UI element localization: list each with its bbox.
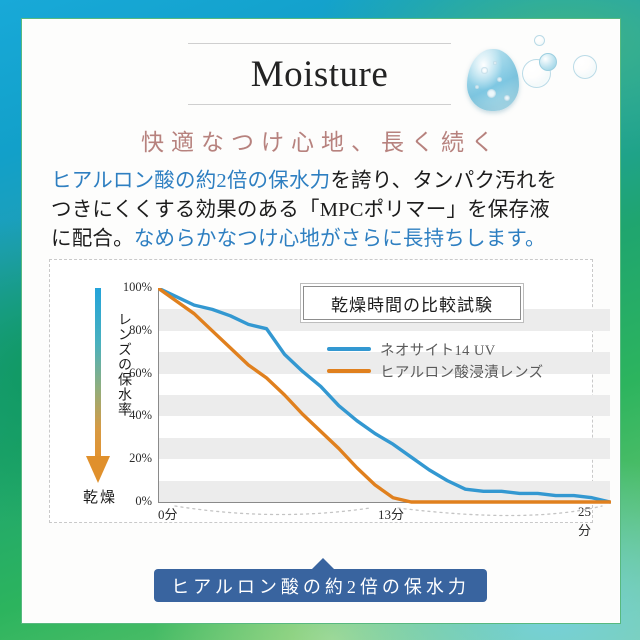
bottom-banner[interactable]: ヒアルロン酸の約2倍の保水力 [154, 569, 487, 602]
header: Moisture [22, 31, 620, 115]
chart-y-tick-label: 100% [112, 280, 152, 295]
header-rule-top [188, 43, 451, 44]
bubble-small-icon [539, 53, 557, 71]
body-highlight-2: なめらかなつけ心地がさらに長持ちします。 [134, 228, 546, 250]
chart-series-lines [158, 288, 611, 504]
dryness-arrow-icon [86, 288, 110, 486]
body-highlight-1: ヒアルロン酸の約2倍の保水力 [51, 170, 330, 192]
body-text-2: つきにくくする効果のある「MPCポリマー」を保存液 [51, 199, 550, 221]
droplet-large-icon [467, 49, 519, 111]
body-paragraph: ヒアルロン酸の約2倍の保水力を誇り、タンパク汚れをつきにくくする効果のある「MP… [51, 167, 596, 254]
chart-legend: ネオサイト14 UVヒアルロン酸浸漬レンズ [327, 338, 577, 382]
chart-container: 100%80%60%40%20%0% レンズの保水率 乾燥 0分 13分 25分… [49, 259, 593, 523]
page-title: Moisture [188, 49, 451, 101]
chart-legend-swatch [327, 369, 371, 373]
bubble-right-icon [573, 55, 597, 79]
chart-legend-item: ヒアルロン酸浸漬レンズ [327, 360, 577, 382]
chart-legend-label: ネオサイト14 UV [380, 339, 496, 360]
chart-legend-item: ネオサイト14 UV [327, 338, 577, 360]
body-text-1: を誇り、タンパク汚れを [330, 170, 557, 192]
header-rule-bottom [188, 104, 451, 105]
droplet-sparkle [475, 85, 479, 89]
banner-label: ヒアルロン酸の約2倍の保水力 [171, 573, 470, 599]
chart-series-line [158, 288, 610, 502]
chart-y-axis-label: レンズの保水率 [112, 312, 131, 417]
chart-x-axis-arcs [150, 500, 610, 522]
advertisement-stage: Moisture 快適なつけ心地、長く続く ヒアルロン酸の約2倍の保水力を誇り、… [0, 0, 640, 640]
bubble-tiny-icon [534, 35, 545, 46]
content-card: Moisture 快適なつけ心地、長く続く ヒアルロン酸の約2倍の保水力を誇り、… [21, 18, 621, 624]
body-text-3: に配合。 [51, 228, 134, 250]
chart-legend-label: ヒアルロン酸浸漬レンズ [380, 361, 543, 382]
chart-y-tick-label: 20% [112, 451, 152, 466]
droplet-sparkle [504, 95, 510, 101]
droplet-sparkle [497, 77, 502, 82]
droplet-sparkle [481, 67, 488, 74]
chart-title: 乾燥時間の比較試験 [303, 286, 521, 320]
chart-dryness-label: 乾燥 [77, 486, 123, 507]
droplet-sparkle [487, 89, 496, 98]
section-subtitle: 快適なつけ心地、長く続く [22, 123, 620, 157]
arrow-stem [95, 288, 101, 460]
water-droplet-icon [447, 33, 607, 119]
chart-series-line [158, 288, 610, 502]
droplet-sparkle [493, 61, 497, 65]
arrow-head [86, 456, 110, 483]
chart-legend-swatch [327, 347, 371, 351]
